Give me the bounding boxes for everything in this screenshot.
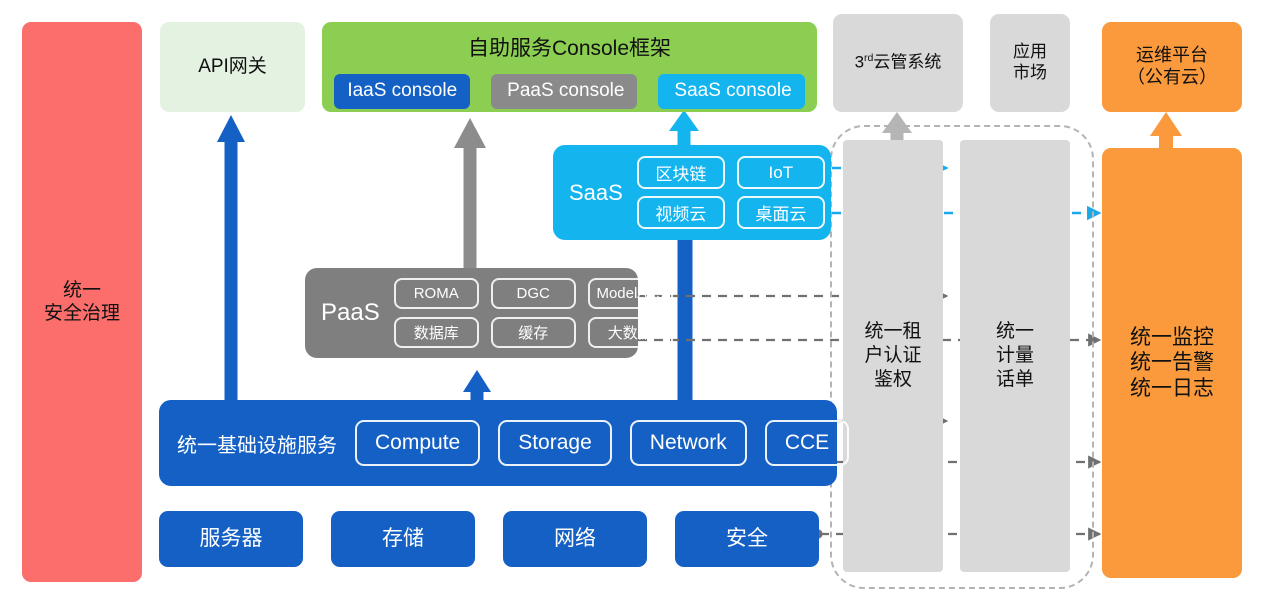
unified-infrastructure-label: 统一基础设施服务	[177, 429, 337, 458]
paas-console-chip[interactable]: PaaS console	[491, 74, 637, 109]
saas-tile-grid: 区块链 IoT 视频云 桌面云	[637, 156, 825, 229]
orange-arrow-ops	[1150, 112, 1182, 148]
paas-panel: PaaS ROMA DGC ModelArts 数据库 缓存 大数据	[305, 268, 638, 358]
paas-tile-database[interactable]: 数据库	[394, 317, 479, 348]
resource-box-security[interactable]: 安全	[675, 511, 819, 567]
saas-console-chip[interactable]: SaaS console	[658, 74, 804, 109]
infra-tile-network[interactable]: Network	[630, 420, 747, 466]
paas-tile-grid: ROMA DGC ModelArts 数据库 缓存 大数据	[394, 278, 673, 348]
paas-tile-dgc[interactable]: DGC	[491, 278, 576, 309]
saas-tile-video-cloud[interactable]: 视频云	[637, 196, 725, 229]
grey-arrow-paas-to-console	[454, 118, 486, 268]
blue-arrow-infra-to-apigw	[217, 115, 245, 420]
app-market-box: 应用 市场	[990, 14, 1070, 112]
saas-label: SaaS	[569, 180, 623, 206]
third-party-cloud-mgmt-box: 3rd云管系统	[833, 14, 963, 112]
console-framework-title: 自助服务Console框架	[468, 36, 671, 62]
security-governance-column: 统一 安全治理	[22, 22, 142, 582]
paas-tile-cache[interactable]: 缓存	[491, 317, 576, 348]
infra-tile-cce[interactable]: CCE	[765, 420, 849, 466]
console-framework-panel: 自助服务Console框架 IaaS console PaaS console …	[322, 22, 817, 112]
cyan-arrow-saas-to-console	[669, 110, 699, 145]
paas-tile-bigdata[interactable]: 大数据	[588, 317, 673, 348]
resource-box-storage[interactable]: 存储	[331, 511, 475, 567]
ops-platform-public-cloud-box: 运维平台 （公有云）	[1102, 22, 1242, 112]
saas-tile-blockchain[interactable]: 区块链	[637, 156, 725, 189]
saas-panel: SaaS 区块链 IoT 视频云 桌面云	[553, 145, 831, 240]
unified-tenant-auth-column: 统一租 户认证 鉴权	[843, 140, 943, 572]
api-gateway-box: API网关	[160, 22, 305, 112]
paas-tile-roma[interactable]: ROMA	[394, 278, 479, 309]
resource-box-server[interactable]: 服务器	[159, 511, 303, 567]
paas-label: PaaS	[321, 299, 380, 327]
third-party-cloud-mgmt-label: 3rd云管系统	[855, 52, 942, 73]
infra-tile-compute[interactable]: Compute	[355, 420, 480, 466]
saas-tile-iot[interactable]: IoT	[737, 156, 825, 189]
unified-ops-column: 统一监控 统一告警 统一日志	[1102, 148, 1242, 578]
paas-tile-modelarts[interactable]: ModelArts	[588, 278, 673, 309]
unified-metering-billing-column: 统一 计量 话单	[960, 140, 1070, 572]
infra-tile-storage[interactable]: Storage	[498, 420, 612, 466]
saas-tile-desktop-cloud[interactable]: 桌面云	[737, 196, 825, 229]
unified-infrastructure-bar: 统一基础设施服务 Compute Storage Network CCE	[159, 400, 837, 486]
architecture-diagram: 统一 安全治理 API网关 自助服务Console框架 IaaS console…	[0, 0, 1265, 605]
iaas-console-chip[interactable]: IaaS console	[334, 74, 470, 109]
resource-box-network[interactable]: 网络	[503, 511, 647, 567]
